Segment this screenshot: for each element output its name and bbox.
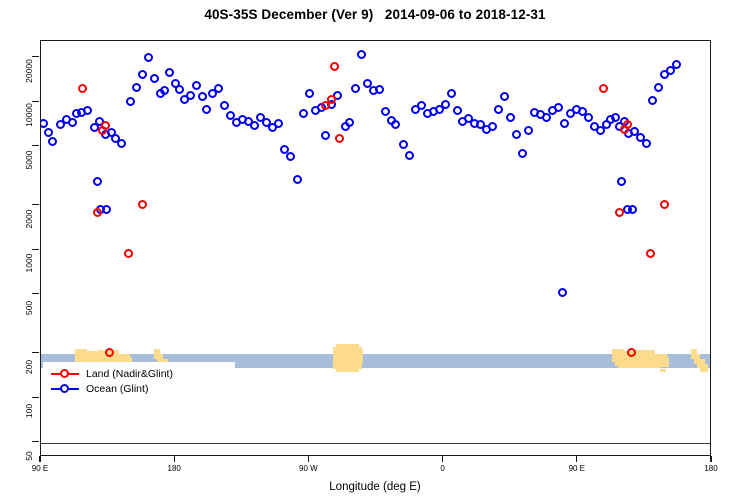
chart-title: 40S-35S December (Ver 9) 2014-09-06 to 2…	[0, 7, 750, 22]
data-point	[138, 70, 147, 79]
data-point	[220, 101, 229, 110]
data-point	[447, 89, 456, 98]
y-axis-tick-label: 100	[24, 396, 34, 426]
x-axis-tick-label: 0	[440, 464, 444, 473]
reference-line	[41, 443, 711, 444]
data-point	[648, 96, 657, 105]
x-axis-tick	[308, 456, 309, 462]
legend-label-ocean: Ocean (Glint)	[81, 383, 148, 395]
data-point	[599, 84, 608, 93]
x-axis-tick	[442, 456, 443, 462]
data-point	[558, 288, 567, 297]
x-axis-tick-label: 90 E	[569, 464, 585, 473]
data-point	[40, 119, 48, 128]
data-point	[117, 139, 126, 148]
data-point	[160, 86, 169, 95]
x-axis-tick-label: 90 W	[299, 464, 318, 473]
data-point	[198, 92, 207, 101]
data-point	[506, 113, 515, 122]
x-axis-tick-label: 180	[704, 464, 717, 473]
data-point	[345, 118, 354, 127]
data-point	[299, 109, 308, 118]
data-point	[512, 130, 521, 139]
data-point	[102, 205, 111, 214]
y-axis-tick-label: 500	[24, 293, 34, 323]
y-axis-tick-label: 2000	[24, 204, 34, 234]
ocean-marker-icon	[49, 382, 81, 395]
data-point	[68, 118, 77, 127]
y-axis-tick-label: 5000	[24, 145, 34, 175]
data-point	[330, 62, 339, 71]
data-point	[615, 208, 624, 217]
data-point	[132, 83, 141, 92]
data-point	[627, 348, 636, 357]
legend-label-land: Land (Nadir&Glint)	[81, 368, 173, 380]
data-point	[214, 84, 223, 93]
data-point	[124, 249, 133, 258]
data-point	[286, 152, 295, 161]
data-point	[78, 84, 87, 93]
data-point	[274, 119, 283, 128]
data-point	[391, 120, 400, 129]
data-point	[150, 74, 159, 83]
legend-item-land[interactable]: Land (Nadir&Glint)	[49, 366, 235, 381]
y-axis-tick-label: 200	[24, 352, 34, 382]
data-point	[381, 107, 390, 116]
data-point	[83, 106, 92, 115]
data-point	[93, 208, 102, 217]
data-point	[524, 126, 533, 135]
data-point	[192, 81, 201, 90]
data-point	[672, 60, 681, 69]
data-point	[584, 113, 593, 122]
data-point	[617, 177, 626, 186]
data-point	[554, 103, 563, 112]
y-axis-tick-label: 1000	[24, 248, 34, 278]
data-point	[654, 83, 663, 92]
data-point	[165, 68, 174, 77]
landmass-shape	[660, 369, 666, 373]
data-point	[321, 131, 330, 140]
chart-root: 40S-35S December (Ver 9) 2014-09-06 to 2…	[0, 0, 750, 500]
data-point	[560, 119, 569, 128]
data-point	[335, 134, 344, 143]
data-point	[250, 121, 259, 130]
plot-area: Land (Nadir&Glint) Ocean (Glint)	[40, 40, 711, 456]
data-point	[202, 105, 211, 114]
data-point	[399, 140, 408, 149]
data-point	[623, 120, 632, 129]
x-axis-tick-label: 90 E	[32, 464, 48, 473]
data-point	[44, 128, 53, 137]
data-point	[500, 92, 509, 101]
data-point	[453, 106, 462, 115]
legend-item-ocean[interactable]: Ocean (Glint)	[49, 381, 235, 396]
data-point	[628, 205, 637, 214]
data-point	[327, 95, 336, 104]
data-point	[642, 139, 651, 148]
data-point	[357, 50, 366, 59]
data-point	[186, 91, 195, 100]
data-point	[441, 100, 450, 109]
data-point	[405, 151, 414, 160]
data-point	[105, 348, 114, 357]
landmass-shape	[348, 349, 363, 361]
x-axis-tick-label: 180	[168, 464, 181, 473]
data-point	[660, 200, 669, 209]
plot-frame: Land (Nadir&Glint) Ocean (Glint)	[40, 40, 711, 456]
data-point	[518, 149, 527, 158]
data-point	[93, 177, 102, 186]
x-axis-tick	[576, 456, 577, 462]
land-marker-icon	[49, 367, 81, 380]
x-axis-tick	[710, 456, 711, 462]
x-axis-tick	[174, 456, 175, 462]
data-point	[138, 200, 147, 209]
landmass-shape	[700, 364, 707, 371]
data-point	[175, 85, 184, 94]
x-axis-tick	[39, 456, 40, 462]
data-point	[375, 85, 384, 94]
data-point	[144, 53, 153, 62]
data-point	[494, 105, 503, 114]
y-axis-tick-label: 10000	[24, 100, 34, 130]
legend: Land (Nadir&Glint) Ocean (Glint)	[43, 362, 235, 400]
data-point	[646, 249, 655, 258]
data-point	[351, 84, 360, 93]
data-point	[611, 113, 620, 122]
data-point	[126, 97, 135, 106]
data-point	[48, 137, 57, 146]
x-axis-label: Longitude (deg E)	[0, 481, 750, 493]
data-point	[293, 175, 302, 184]
landmass-shape	[660, 357, 669, 367]
data-point	[305, 89, 314, 98]
y-axis-tick-label: 20000	[24, 56, 34, 86]
data-point	[488, 122, 497, 131]
data-point	[101, 121, 110, 130]
